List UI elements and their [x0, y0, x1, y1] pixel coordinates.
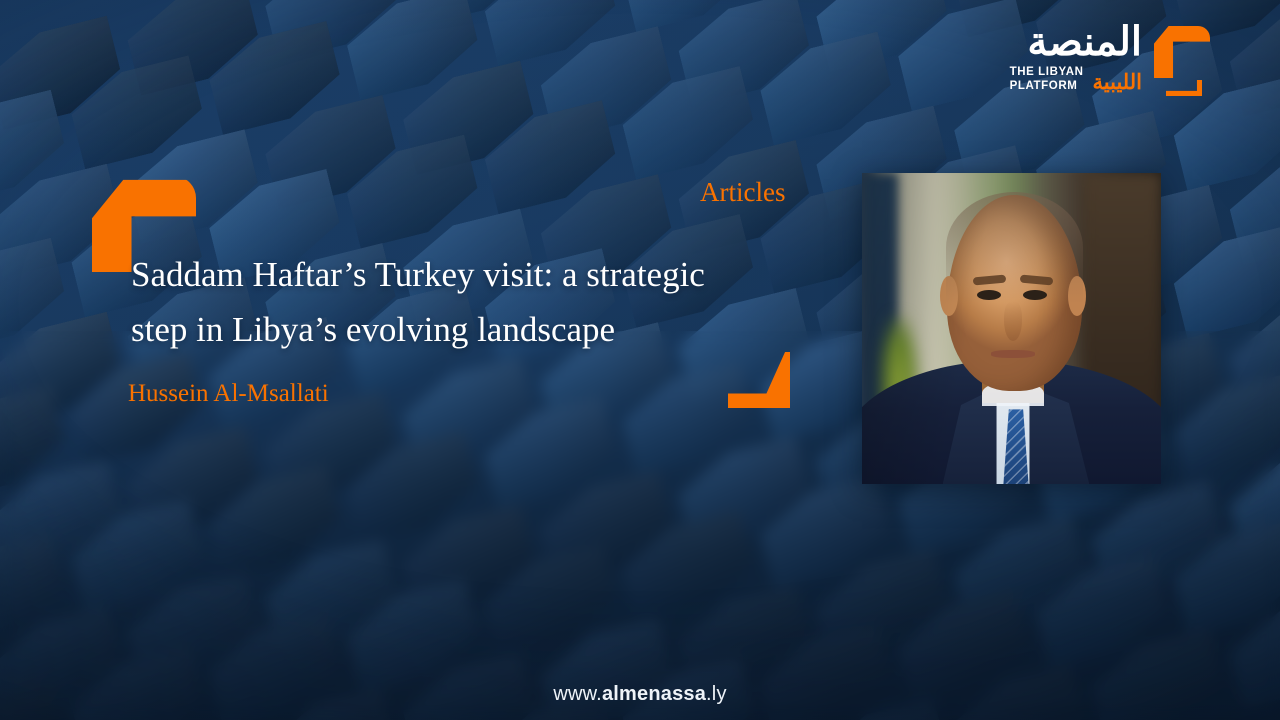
logo-glyph-icon [1152, 24, 1214, 98]
url-prefix: www. [553, 683, 602, 705]
logo-wordmark: المنصة THE LIBYAN PLATFORM الليبية [1010, 22, 1142, 93]
logo-glyph-foot-icon [1166, 80, 1202, 96]
category-label[interactable]: Articles [700, 179, 785, 206]
logo-english-line2: PLATFORM [1010, 80, 1084, 94]
footer-website-url[interactable]: www.almenassa.ly [0, 683, 1280, 706]
headline-line-1: Saddam Haftar’s Turkey visit: a strategi… [131, 248, 811, 303]
url-name: almenassa [602, 683, 706, 705]
logo-english-line1: THE LIBYAN [1010, 66, 1084, 80]
quote-bracket-bottom-right-icon [728, 352, 790, 408]
headline-line-2: step in Libya’s evolving landscape [131, 303, 811, 358]
site-logo[interactable]: المنصة THE LIBYAN PLATFORM الليبية [1010, 22, 1214, 98]
author-portrait-photo [862, 173, 1161, 484]
quote-bracket-bottom-right-shape [728, 352, 790, 408]
headline: Saddam Haftar’s Turkey visit: a strategi… [131, 248, 811, 357]
portrait-shading [862, 173, 1161, 484]
logo-arabic-main: المنصة [1027, 22, 1142, 62]
logo-subline: THE LIBYAN PLATFORM الليبية [1010, 66, 1142, 93]
logo-english: THE LIBYAN PLATFORM [1010, 66, 1084, 93]
url-suffix: .ly [706, 683, 727, 705]
logo-glyph-hook-icon [1154, 26, 1210, 78]
article-banner: المنصة THE LIBYAN PLATFORM الليبية Artic… [0, 0, 1280, 720]
logo-arabic-sub: الليبية [1093, 72, 1142, 93]
author-name[interactable]: Hussein Al-Msallati [128, 381, 329, 406]
